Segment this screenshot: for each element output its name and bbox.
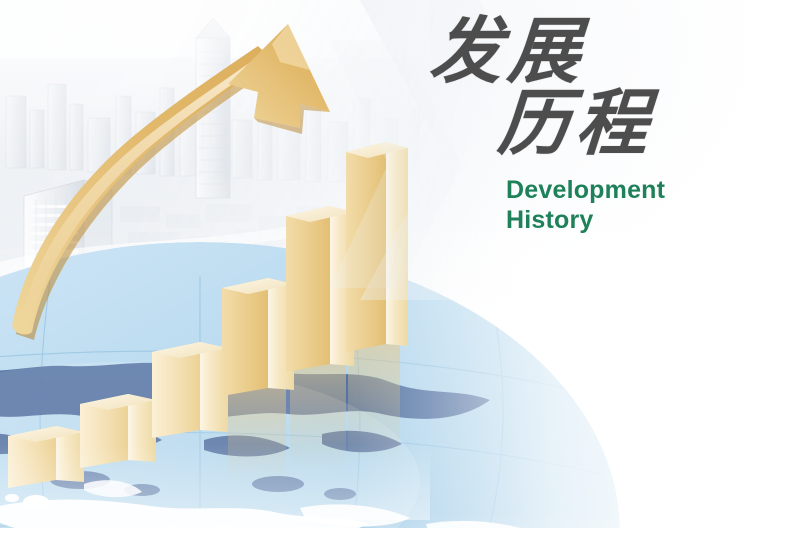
title-english-line-2: History <box>506 205 784 236</box>
title-block: 发展 历程 Development History <box>424 18 784 236</box>
title-chinese-line-2: 历程 <box>496 90 787 158</box>
arrow-head <box>228 24 330 134</box>
growth-arrow-graphic <box>0 0 340 360</box>
title-chinese-line-1: 发展 <box>428 18 787 86</box>
development-history-banner: 发展 历程 Development History <box>0 0 800 540</box>
title-english-line-1: Development <box>506 175 784 206</box>
title-english-block: Development History <box>506 175 784 236</box>
bottom-white-band <box>0 528 800 540</box>
